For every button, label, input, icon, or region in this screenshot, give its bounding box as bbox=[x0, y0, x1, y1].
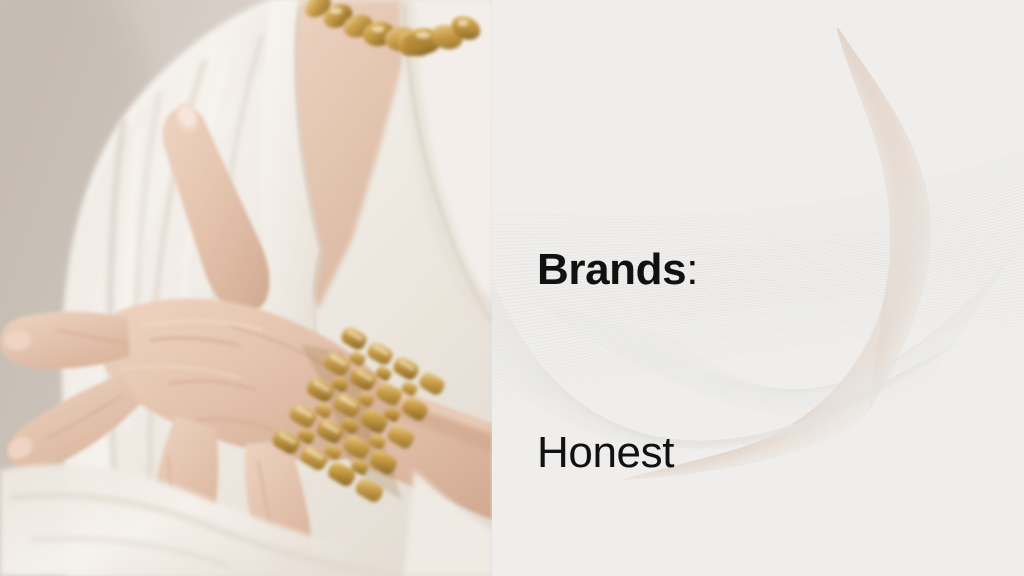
hero-photo bbox=[0, 0, 492, 576]
hero-text-panel: Brands: Honest User-Generated Content Is… bbox=[492, 0, 1024, 576]
headline-line-1: Brands: bbox=[537, 239, 1024, 300]
hero-banner: Brands: Honest User-Generated Content Is… bbox=[0, 0, 1024, 576]
photo-illustration bbox=[0, 0, 492, 576]
headline-emphasis: Brands bbox=[537, 245, 686, 294]
headline-line-2: Honest bbox=[537, 422, 1024, 483]
headline-colon: : bbox=[686, 245, 698, 294]
page-title: Brands: Honest User-Generated Content Is… bbox=[537, 117, 1024, 576]
